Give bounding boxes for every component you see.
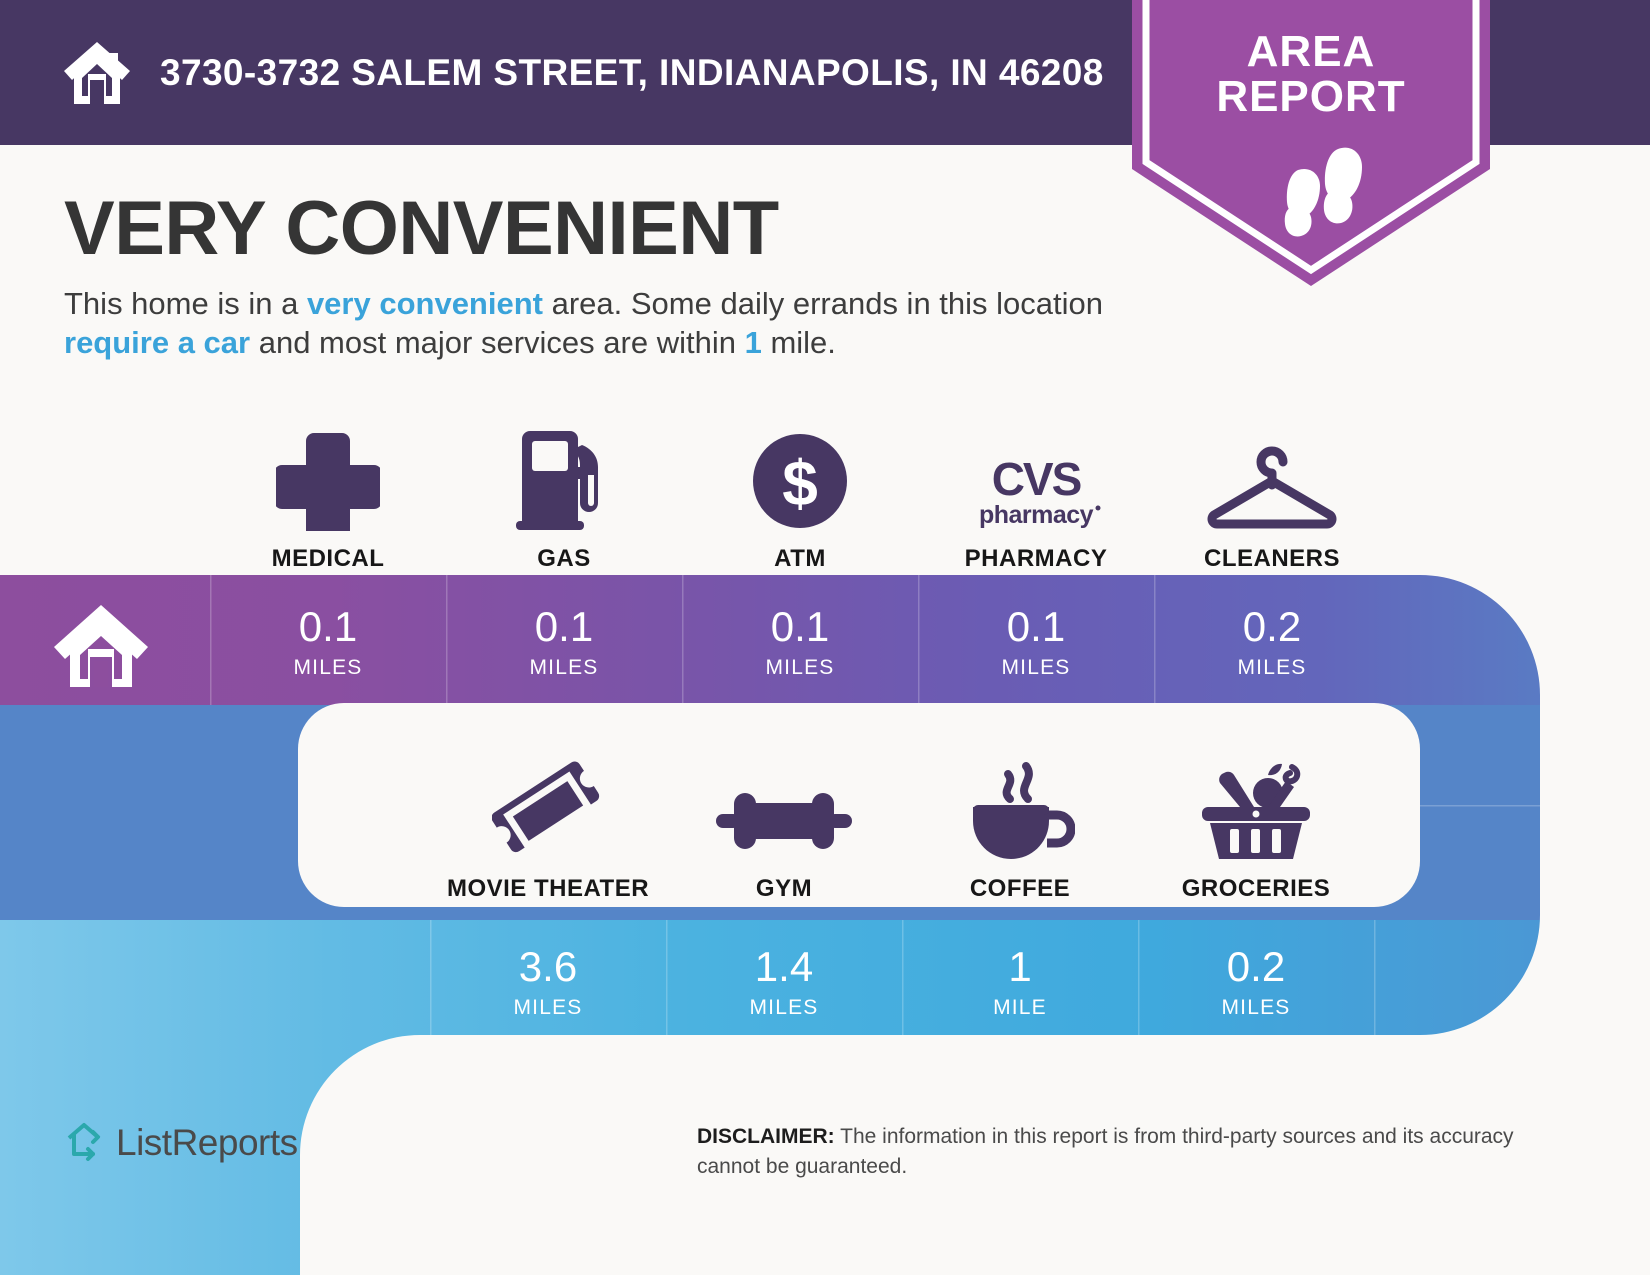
- disclaimer-label: DISCLAIMER:: [697, 1125, 835, 1148]
- summary-part-3: and most major services are within: [250, 325, 744, 360]
- svg-text:pharmacy: pharmacy: [979, 501, 1094, 529]
- amenity-movie-theater: MOVIE THEATER: [430, 755, 666, 903]
- page-title: VERY CONVENIENT: [64, 185, 779, 272]
- amenity-groceries: GROCERIES: [1138, 755, 1374, 903]
- amenity-label: GROCERIES: [1182, 875, 1331, 903]
- dumbbell-icon: [716, 755, 852, 861]
- amenity-icon-row-2: MOVIE THEATER GYM COFFEE: [430, 755, 1374, 903]
- amenity-label: GYM: [756, 875, 812, 903]
- amenity-label: COFFEE: [970, 875, 1070, 903]
- amenity-atm: $ ATM: [682, 425, 918, 573]
- gas-pump-icon: [510, 425, 618, 531]
- summary-part-1: This home is in a: [64, 286, 307, 321]
- grocery-basket-icon: [1198, 755, 1314, 861]
- summary-highlight-2: require a car: [64, 325, 250, 360]
- amenity-coffee: COFFEE: [902, 755, 1138, 903]
- amenity-label: ATM: [774, 545, 826, 573]
- listreports-logo: ListReports: [62, 1118, 298, 1167]
- header-content: 3730-3732 SALEM STREET, INDIANAPOLIS, IN…: [62, 0, 1104, 145]
- listreports-logo-icon: [62, 1118, 106, 1167]
- amenity-cleaners: CLEANERS: [1154, 425, 1390, 573]
- summary-highlight-1: very convenient: [307, 286, 543, 321]
- summary-highlight-3: 1: [745, 325, 762, 360]
- amenity-pharmacy: CVS pharmacy PHARMACY: [918, 425, 1154, 573]
- hanger-icon: [1204, 425, 1340, 531]
- amenity-gym: GYM: [666, 755, 902, 903]
- coffee-cup-icon: [965, 755, 1075, 861]
- amenity-icon-row-1: MEDICAL GAS $ ATM CVS pharmacy: [210, 425, 1390, 573]
- summary-text: This home is in a very convenient area. …: [64, 285, 1124, 363]
- amenity-label: MOVIE THEATER: [447, 875, 649, 903]
- svg-text:CVS: CVS: [992, 453, 1081, 505]
- movie-ticket-icon: [492, 755, 604, 861]
- disclaimer: DISCLAIMER: The information in this repo…: [697, 1122, 1517, 1182]
- amenity-label: PHARMACY: [965, 545, 1108, 573]
- summary-part-4: mile.: [762, 325, 836, 360]
- medical-cross-icon: [276, 425, 380, 531]
- logo-text: ListReports: [116, 1122, 298, 1164]
- cvs-pharmacy-icon: CVS pharmacy: [965, 425, 1107, 531]
- amenity-label: GAS: [537, 545, 591, 573]
- amenity-gas: GAS: [446, 425, 682, 573]
- property-address: 3730-3732 SALEM STREET, INDIANAPOLIS, IN…: [160, 52, 1104, 94]
- amenity-label: MEDICAL: [272, 545, 385, 573]
- amenity-label: CLEANERS: [1204, 545, 1340, 573]
- area-report-badge: AREA REPORT: [1132, 0, 1490, 286]
- home-icon: [62, 40, 132, 106]
- atm-dollar-icon: $: [750, 425, 850, 531]
- amenity-medical: MEDICAL: [210, 425, 446, 573]
- svg-text:$: $: [782, 447, 818, 519]
- summary-part-2: area. Some daily errands in this locatio…: [543, 286, 1103, 321]
